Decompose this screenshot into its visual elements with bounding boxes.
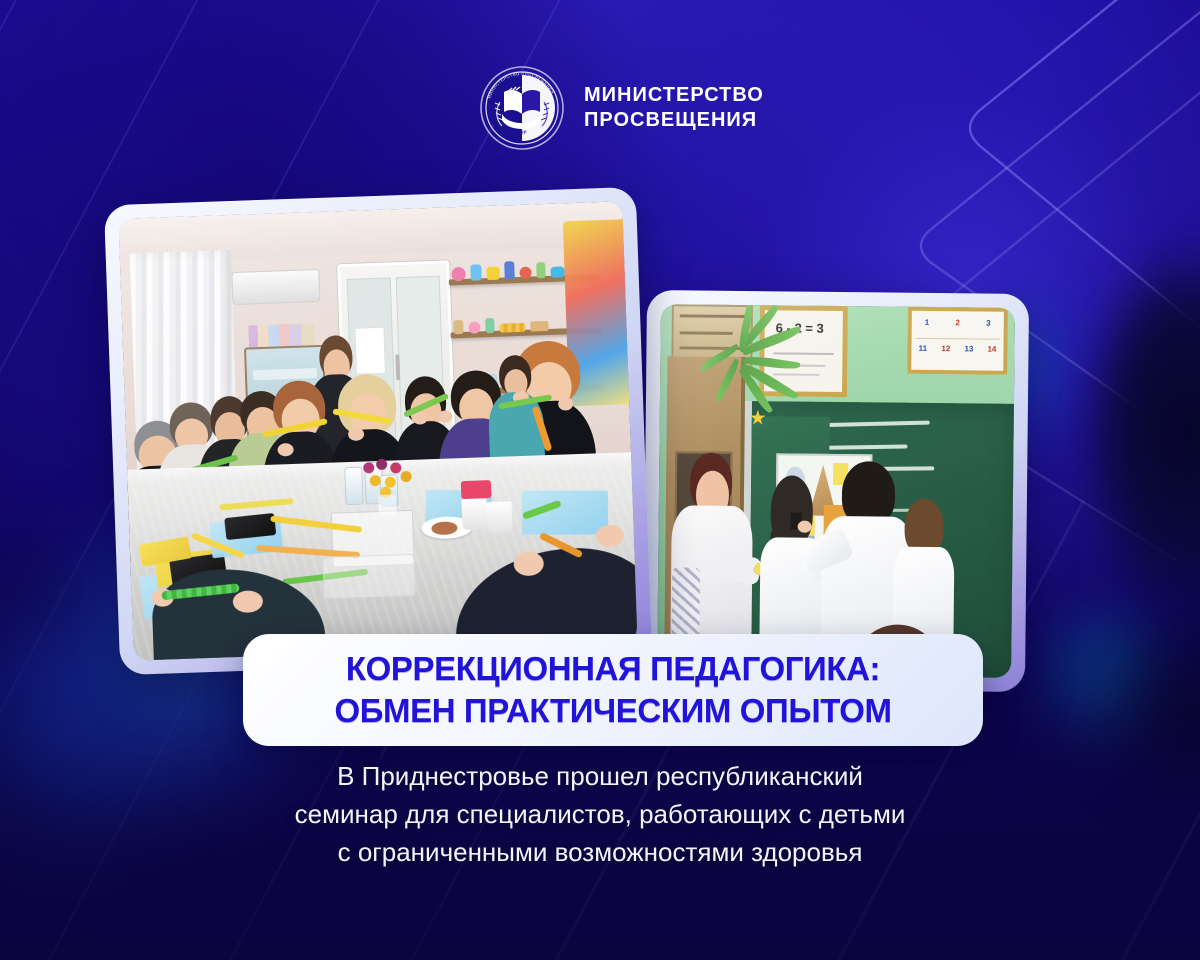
- brand-lockup: МИНИСТЕРСТВО ПРОСВЕЩЕНИЯ ПМР: [478, 64, 764, 152]
- photo-classroom-lesson: 6 - 2 = 3 123 11121314: [643, 290, 1029, 692]
- subtitle-line-1: В Приднестровье прошел республиканский: [0, 757, 1200, 795]
- subtitle-line-2: семинар для специалистов, работающих с д…: [0, 795, 1200, 833]
- poster-canvas: МИНИСТЕРСТВО ПРОСВЕЩЕНИЯ ПМР: [0, 0, 1200, 960]
- photo-workshop-image: [118, 201, 637, 660]
- svg-text:ПМР: ПМР: [515, 129, 528, 135]
- headline-card: КОРРЕКЦИОННАЯ ПЕДАГОГИКА: ОБМЕН ПРАКТИЧЕ…: [243, 634, 983, 746]
- ministry-emblem-icon: МИНИСТЕРСТВО ПРОСВЕЩЕНИЯ ПМР: [478, 64, 566, 152]
- subtitle-line-3: с ограниченными возможностями здоровья: [0, 833, 1200, 871]
- photo-classroom-image: 6 - 2 = 3 123 11121314: [657, 304, 1015, 678]
- headline-line-2: ОБМЕН ПРАКТИЧЕСКИМ ОПЫТОМ: [334, 691, 891, 731]
- brand-name: МИНИСТЕРСТВО ПРОСВЕЩЕНИЯ: [584, 83, 764, 133]
- subtitle-block: В Приднестровье прошел республиканский с…: [0, 757, 1200, 871]
- headline-line-1: КОРРЕКЦИОННАЯ ПЕДАГОГИКА:: [346, 649, 880, 689]
- photo-craft-workshop: [104, 187, 652, 675]
